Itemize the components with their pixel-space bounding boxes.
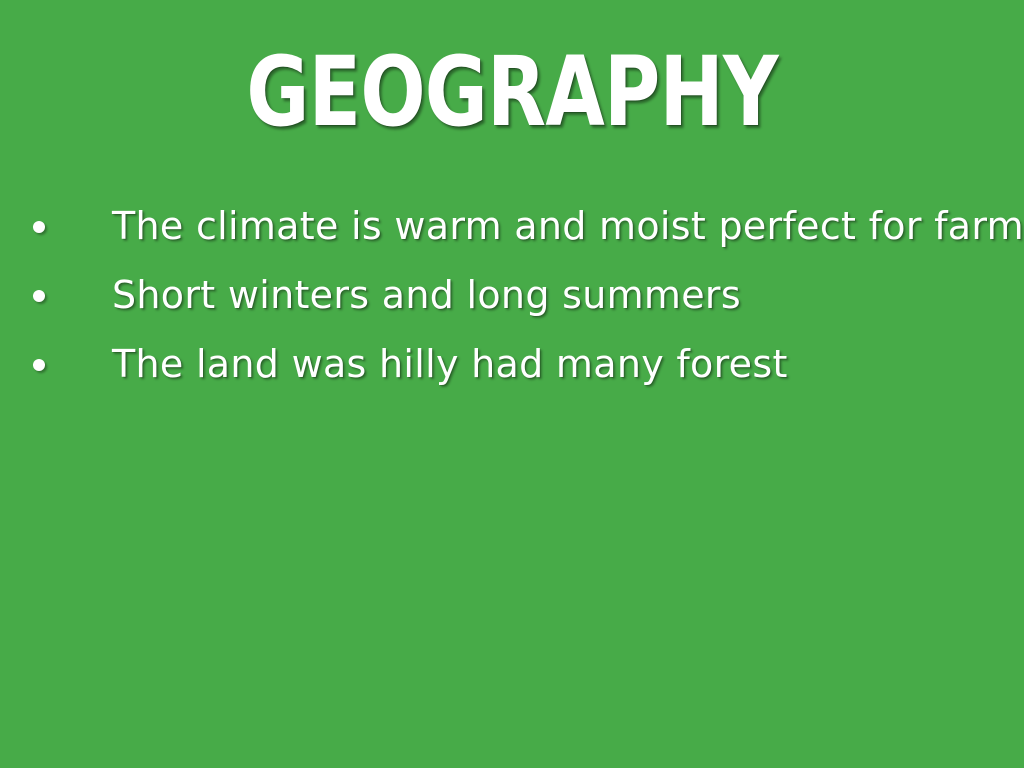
bullet-list: The climate is warm and moist perfect fo… bbox=[0, 192, 1024, 399]
bullet-dot-icon bbox=[33, 359, 45, 371]
list-item: Short winters and long summers bbox=[0, 261, 1024, 330]
slide-empty-area bbox=[0, 400, 1024, 768]
bullet-dot-icon bbox=[33, 290, 45, 302]
list-item-label: The climate is warm and moist perfect fo… bbox=[112, 206, 1024, 248]
presentation-slide: GEOGRAPHY The climate is warm and moist … bbox=[0, 0, 1024, 768]
slide-title-block: GEOGRAPHY bbox=[0, 44, 1024, 140]
list-item-label: Short winters and long summers bbox=[112, 275, 741, 317]
page-title: GEOGRAPHY bbox=[246, 44, 777, 140]
list-item: The land was hilly had many forest bbox=[0, 330, 1024, 399]
list-item: The climate is warm and moist perfect fo… bbox=[0, 192, 1024, 261]
bullet-dot-icon bbox=[33, 221, 45, 233]
list-item-label: The land was hilly had many forest bbox=[112, 344, 788, 386]
